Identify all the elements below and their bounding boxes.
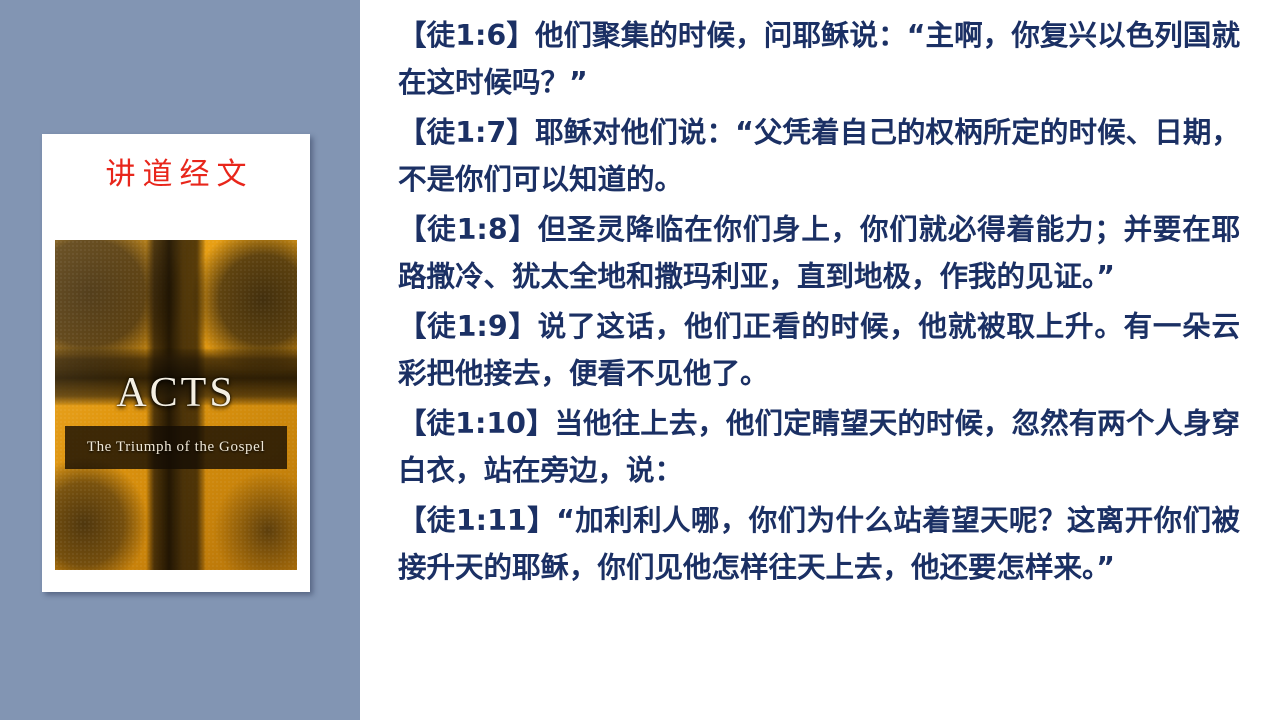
scripture-text-panel: 【徒1:6】他们聚集的时候，问耶稣说：“主啊，你复兴以色列国就在这时候吗？” 【… (360, 0, 1280, 720)
verse-paragraph: 【徒1:6】他们聚集的时候，问耶稣说：“主啊，你复兴以色列国就在这时候吗？” (398, 12, 1240, 106)
book-cover-subtitle-band: The Triumph of the Gospel (65, 426, 288, 469)
verse-paragraph: 【徒1:9】说了这话，他们正看的时候，他就被取上升。有一朵云彩把他接去，便看不见… (398, 303, 1240, 397)
verse-paragraph: 【徒1:11】“加利利人哪，你们为什么站着望天呢？这离开你们被接升天的耶稣，你们… (398, 497, 1240, 591)
book-cover-title: ACTS (55, 372, 297, 414)
acts-book-cover-image: ACTS The Triumph of the Gospel (55, 240, 297, 570)
left-sidebar-panel: 讲道经文 ACTS The Triumph of the Gospel (0, 0, 360, 720)
verse-paragraph: 【徒1:7】耶稣对他们说：“父凭着自己的权柄所定的时候、日期，不是你们可以知道的… (398, 109, 1240, 203)
verse-paragraph: 【徒1:8】但圣灵降临在你们身上，你们就必得着能力；并要在耶路撒冷、犹太全地和撒… (398, 206, 1240, 300)
presentation-slide: 讲道经文 ACTS The Triumph of the Gospel 【徒1:… (0, 0, 1280, 720)
book-cover-subtitle: The Triumph of the Gospel (87, 439, 265, 456)
card-title: 讲道经文 (42, 160, 310, 190)
scripture-image-card: 讲道经文 ACTS The Triumph of the Gospel (42, 134, 310, 592)
verse-paragraph: 【徒1:10】当他往上去，他们定睛望天的时候，忽然有两个人身穿白衣，站在旁边，说… (398, 400, 1240, 494)
